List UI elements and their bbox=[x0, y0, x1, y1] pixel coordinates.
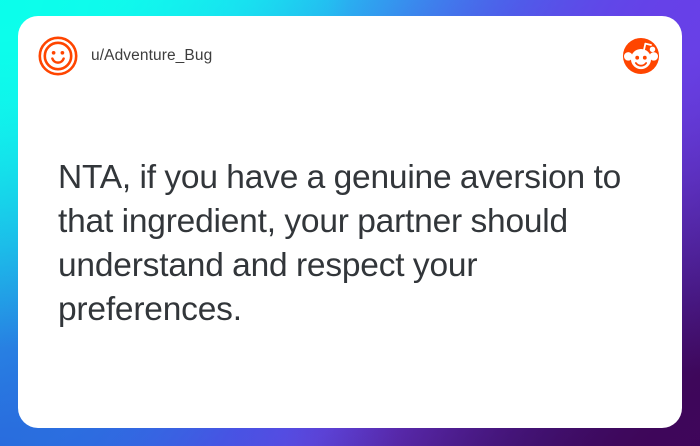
post-text: NTA, if you have a genuine aversion to t… bbox=[58, 156, 642, 332]
card-body: NTA, if you have a genuine aversion to t… bbox=[58, 156, 642, 332]
smiley-face-avatar-icon bbox=[38, 36, 78, 76]
author-username: u/Adventure_Bug bbox=[91, 47, 212, 65]
reddit-post-card: u/Adventure_Bug NTA, if you have a genui… bbox=[18, 16, 682, 428]
card-header: u/Adventure_Bug bbox=[18, 16, 682, 96]
author-block[interactable]: u/Adventure_Bug bbox=[38, 36, 622, 76]
reddit-logo[interactable] bbox=[622, 37, 660, 75]
avatar[interactable] bbox=[38, 36, 78, 76]
reddit-snoo-logo-icon bbox=[622, 37, 660, 75]
screenshot-root: u/Adventure_Bug NTA, if you have a genui… bbox=[0, 0, 700, 446]
